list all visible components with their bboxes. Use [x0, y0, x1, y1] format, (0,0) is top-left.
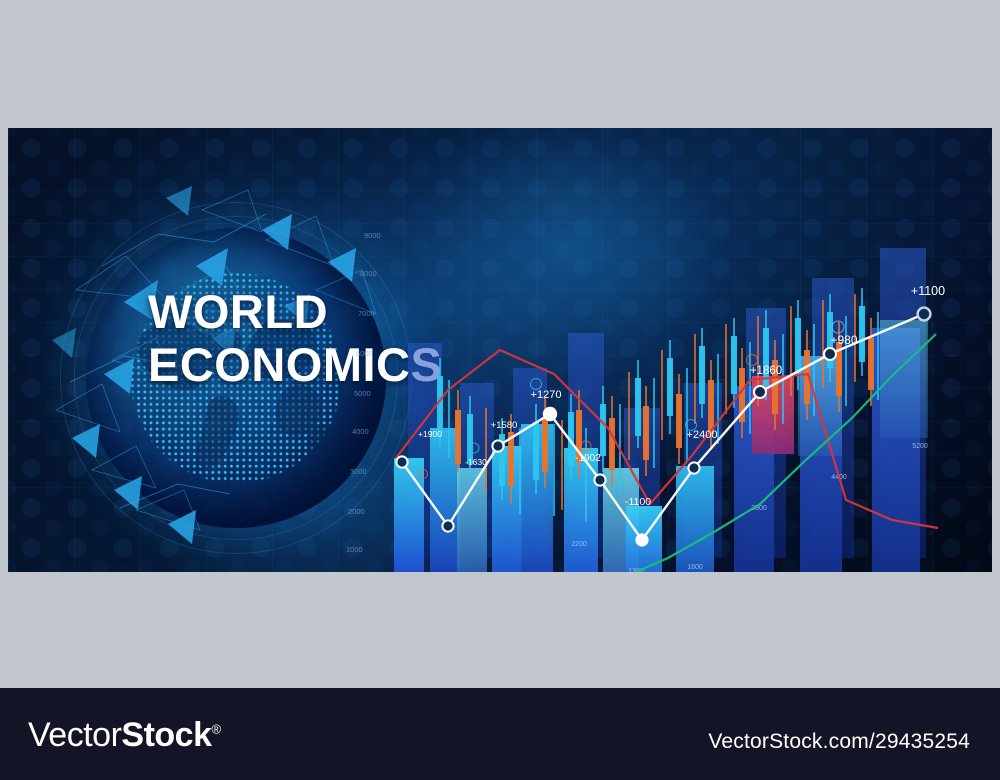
point-label-9: +1100: [911, 284, 945, 298]
vectorstock-footer: VectorStock® VectorStock.com/29435254: [0, 688, 1000, 780]
vectorstock-url: VectorStock.com/29435254: [708, 730, 970, 754]
point-label-5: -1100: [625, 496, 651, 508]
svg-text:6000: 6000: [356, 349, 373, 358]
point-label-2: +1580: [491, 420, 518, 431]
economics-chart: 9000 8000 7000 6000 5000 4000 3000 2000 …: [8, 128, 992, 572]
svg-text:9000: 9000: [364, 231, 381, 240]
svg-text:5000: 5000: [354, 389, 371, 398]
svg-text:8000: 8000: [360, 269, 377, 278]
y-axis-labels: 9000 8000 7000 6000 5000 4000 3000 2000 …: [346, 231, 381, 554]
svg-text:7000: 7000: [358, 309, 375, 318]
point-label-4: -1902: [575, 453, 601, 464]
point-label-1: -1630: [465, 457, 487, 467]
chart-svg: 9000 8000 7000 6000 5000 4000 3000 2000 …: [8, 128, 992, 572]
svg-text:2000: 2000: [348, 507, 365, 516]
svg-text:4000: 4000: [352, 427, 369, 436]
point-label-3: +1270: [531, 389, 562, 401]
point-label-8: +980: [830, 333, 857, 347]
vectorstock-logo: VectorStock®: [28, 716, 221, 755]
registered-mark-icon: ®: [211, 722, 220, 737]
point-label-7: +1860: [750, 365, 782, 377]
logo-word-vector: Vector: [28, 716, 121, 754]
svg-text:3000: 3000: [350, 467, 367, 476]
svg-text:1600: 1600: [687, 564, 703, 571]
svg-text:1000: 1000: [346, 545, 363, 554]
point-label-0: +1900: [418, 429, 442, 439]
stock-artwork-canvas: WORLD ECONOMICS: [8, 128, 992, 572]
svg-text:5200: 5200: [912, 443, 928, 450]
logo-word-stock: Stock: [121, 716, 211, 754]
svg-text:2200: 2200: [571, 541, 587, 548]
